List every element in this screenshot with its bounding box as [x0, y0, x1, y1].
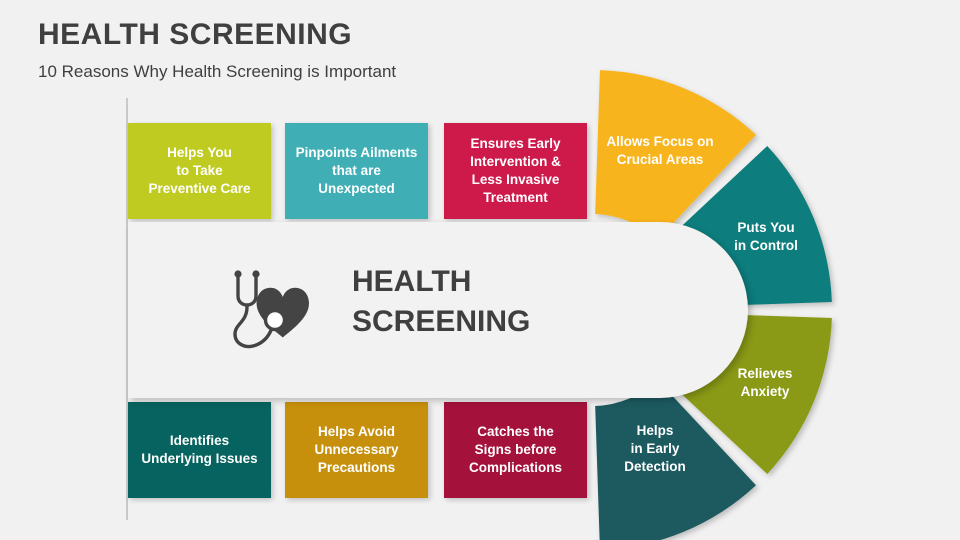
tile-line: Precautions	[318, 460, 395, 475]
wedge-label-relieves-anxiety: Relieves Anxiety	[712, 365, 818, 401]
tile-line: Preventive Care	[148, 181, 250, 196]
tile-line: Intervention &	[470, 154, 561, 169]
wedge-line: in Control	[710, 237, 822, 255]
center-heading: HEALTH SCREENING	[352, 262, 612, 342]
reason-tile-pinpoints-ailments[interactable]: Pinpoints Ailments that are Unexpected	[285, 123, 428, 219]
tile-line: to Take	[176, 163, 222, 178]
wedge-line: Anxiety	[712, 383, 818, 401]
wedge-line: Relieves	[712, 365, 818, 383]
wedge-line: in Early	[600, 440, 710, 458]
tile-line: Helps You	[167, 145, 232, 160]
wedge-line: Crucial Areas	[596, 151, 724, 169]
wedge-label-allows-focus: Allows Focus on Crucial Areas	[596, 133, 724, 169]
tile-line: Treatment	[483, 190, 548, 205]
tile-line: Unnecessary	[314, 442, 398, 457]
tile-line: Complications	[469, 460, 562, 475]
tile-line: Unexpected	[318, 181, 395, 196]
reason-tile-helps-avoid-unnecessary-precautions[interactable]: Helps Avoid Unnecessary Precautions	[285, 402, 428, 498]
reason-tile-ensures-early-intervention[interactable]: Ensures Early Intervention & Less Invasi…	[444, 123, 587, 219]
infographic-slide: HEALTH SCREENING 10 Reasons Why Health S…	[0, 0, 960, 540]
wedge-label-helps-in-early-detection: Helps in Early Detection	[600, 422, 710, 475]
tile-line: that are	[332, 163, 381, 178]
reason-tile-identifies-underlying-issues[interactable]: Identifies Underlying Issues	[128, 402, 271, 498]
wedge-label-puts-you-in-control: Puts You in Control	[710, 219, 822, 255]
wedge-line: Helps	[600, 422, 710, 440]
tile-line: Helps Avoid	[318, 424, 395, 439]
reason-tile-catches-signs-before-complications[interactable]: Catches the Signs before Complications	[444, 402, 587, 498]
reason-tile-helps-preventive-care[interactable]: Helps You to Take Preventive Care	[128, 123, 271, 219]
tile-line: Less Invasive	[472, 172, 560, 187]
wedge-line: Detection	[600, 458, 710, 476]
tile-line: Signs before	[475, 442, 557, 457]
center-heading-line1: HEALTH	[352, 262, 612, 302]
wedge-line: Puts You	[710, 219, 822, 237]
tile-line: Catches the	[477, 424, 554, 439]
tile-line: Ensures Early	[470, 136, 560, 151]
tile-line: Identifies	[170, 433, 229, 448]
wedge-line: Allows Focus on	[596, 133, 724, 151]
tile-line: Pinpoints Ailments	[296, 145, 418, 160]
center-heading-line2: SCREENING	[352, 302, 612, 342]
tile-line: Underlying Issues	[141, 451, 257, 466]
heart-stethoscope-icon	[222, 258, 326, 362]
